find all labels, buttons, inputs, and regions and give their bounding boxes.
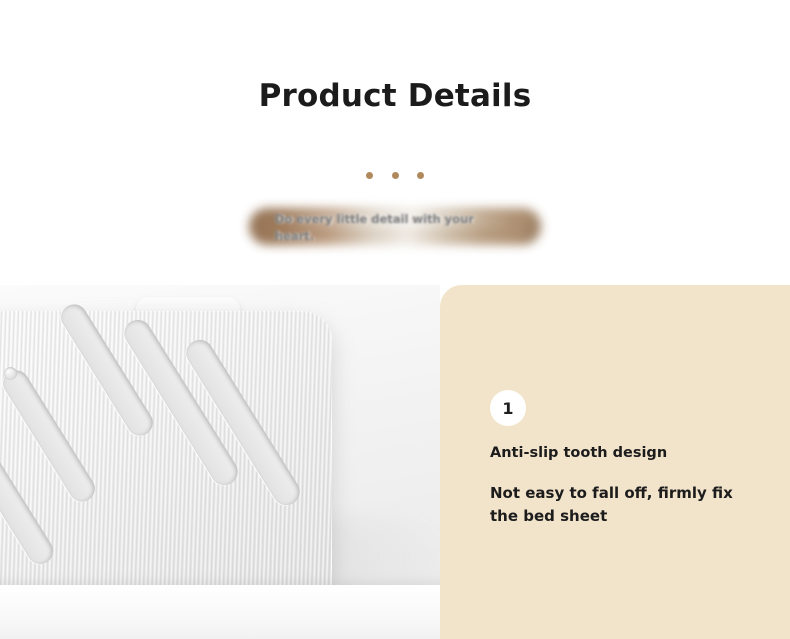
page-title: Product Details <box>0 78 790 114</box>
dot-icon <box>366 172 373 179</box>
decorative-dots <box>0 172 790 179</box>
subtitle-banner: Do every little detail with your heart. <box>249 205 541 249</box>
feature-card: 1 Anti-slip tooth design Not easy to fal… <box>440 285 790 639</box>
clip-dimple <box>4 367 17 380</box>
feature-heading: Anti-slip tooth design <box>490 445 760 461</box>
subtitle-text: Do every little detail with your heart. <box>275 211 495 245</box>
header-section: Product Details Do every little detail w… <box>0 0 790 285</box>
feature-subheading: Not easy to fall off, firmly fix the bed… <box>490 482 752 528</box>
mattress-sheet <box>0 585 490 639</box>
dot-icon <box>392 172 399 179</box>
product-details-page: Product Details Do every little detail w… <box>0 0 790 639</box>
bed-sheet-clip-product <box>0 297 340 627</box>
feature-number-badge: 1 <box>490 390 526 426</box>
dot-icon <box>417 172 424 179</box>
